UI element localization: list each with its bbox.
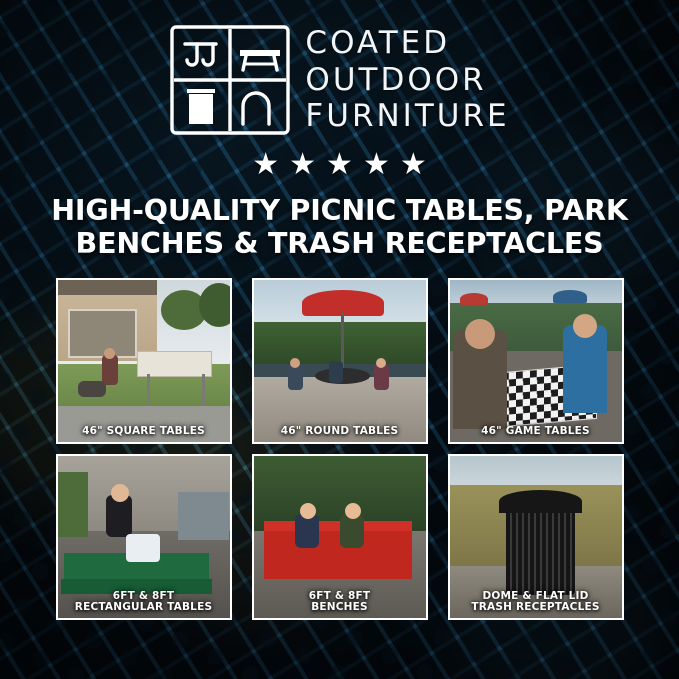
gallery-item[interactable]: DOME & FLAT LID TRASH RECEPTACLES	[448, 454, 624, 620]
product-banner: COATED OUTDOOR FURNITURE ★ ★ ★ ★ ★ HIGH-…	[0, 0, 679, 679]
gallery-caption: 6FT & 8FT RECTANGULAR TABLES	[58, 591, 230, 615]
gallery-item[interactable]: 6FT & 8FT BENCHES	[252, 454, 428, 620]
brand-word-2: OUTDOOR	[305, 63, 509, 98]
brand-word-1: COATED	[305, 26, 509, 61]
brand-logo: COATED OUTDOOR FURNITURE	[169, 24, 509, 136]
gallery-item[interactable]: 46" GAME TABLES	[448, 278, 624, 444]
star-icon: ★	[252, 150, 279, 180]
product-gallery: 46" SQUARE TABLES	[56, 278, 624, 620]
headline: HIGH-QUALITY PICNIC TABLES, PARK BENCHES…	[30, 194, 650, 260]
star-icon: ★	[289, 150, 316, 180]
star-rating: ★ ★ ★ ★ ★	[252, 150, 427, 180]
caption-line-1: 46" SQUARE TABLES	[61, 426, 227, 438]
caption-line-1: 46" GAME TABLES	[453, 426, 619, 438]
star-icon: ★	[326, 150, 353, 180]
gallery-item[interactable]: 46" SQUARE TABLES	[56, 278, 232, 444]
caption-line-1: 46" ROUND TABLES	[257, 426, 423, 438]
gallery-caption: 46" GAME TABLES	[450, 426, 622, 438]
gallery-item[interactable]: 6FT & 8FT RECTANGULAR TABLES	[56, 454, 232, 620]
gallery-caption: 46" SQUARE TABLES	[58, 426, 230, 438]
product-photo-square-tables	[58, 280, 230, 442]
gallery-caption: 46" ROUND TABLES	[254, 426, 426, 438]
star-icon: ★	[400, 150, 427, 180]
star-icon: ★	[363, 150, 390, 180]
product-photo-game-tables	[450, 280, 622, 442]
gallery-caption: DOME & FLAT LID TRASH RECEPTACLES	[450, 591, 622, 615]
caption-line-2: BENCHES	[257, 602, 423, 614]
gallery-item[interactable]: 46" ROUND TABLES	[252, 278, 428, 444]
caption-line-2: TRASH RECEPTACLES	[453, 602, 619, 614]
caption-line-2: RECTANGULAR TABLES	[61, 602, 227, 614]
headline-line-1: HIGH-QUALITY PICNIC TABLES, PARK	[30, 194, 650, 227]
brand-word-3: FURNITURE	[305, 99, 509, 134]
headline-line-2: BENCHES & TRASH RECEPTACLES	[30, 227, 650, 260]
bench-table-trash-logo-icon	[169, 24, 291, 136]
gallery-caption: 6FT & 8FT BENCHES	[254, 591, 426, 615]
product-photo-round-tables	[254, 280, 426, 442]
brand-wordmark: COATED OUTDOOR FURNITURE	[305, 26, 509, 134]
